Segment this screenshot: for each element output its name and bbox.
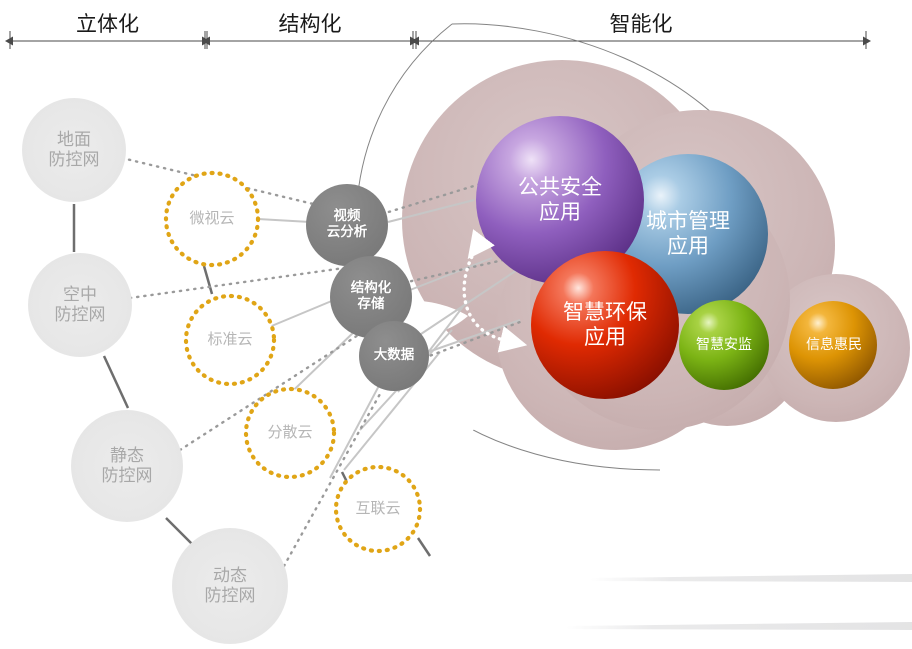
collection-circle: [172, 528, 288, 644]
ground-shadow: [566, 574, 912, 630]
collection-circle: [22, 98, 126, 202]
phase-label-2: 结构化: [207, 8, 413, 38]
diagram-graphics: [0, 0, 912, 649]
sphere-smart-environment: [531, 251, 679, 399]
platform-circle: [359, 321, 429, 391]
cloud-ring: [186, 296, 274, 384]
collection-circle: [28, 253, 132, 357]
platform-circle: [306, 184, 388, 266]
cloud-ring: [336, 467, 420, 551]
phase-label-1: 立体化: [10, 8, 205, 38]
cloud-ring: [246, 389, 334, 477]
cloud-ring: [166, 173, 258, 265]
collection-circle: [71, 410, 183, 522]
sphere-smart-safety: [679, 300, 769, 390]
phase-label-3: 智能化: [416, 8, 866, 38]
diagram-canvas: 立体化 结构化 智能化 地面 防控网 空中 防控网 静态 防控网 动态 防控网 …: [0, 0, 912, 649]
sphere-info-benefit: [789, 301, 877, 389]
